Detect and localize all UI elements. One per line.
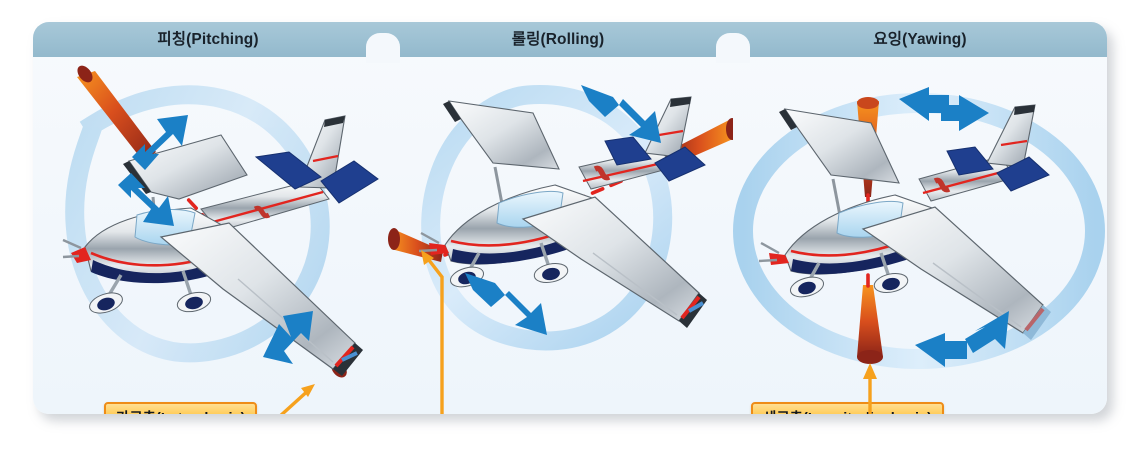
yawing-illustration	[733, 57, 1107, 414]
aircraft-pitching	[63, 116, 378, 376]
column-title-yawing: 요잉(Yawing)	[733, 30, 1107, 50]
rolling-illustration	[383, 57, 733, 414]
column-title-pitching: 피칭(Pitching)	[33, 30, 383, 50]
diagram-panel: 피칭(Pitching) 롤링(Rolling) 요잉(Yawing)	[33, 22, 1107, 414]
figure-root: 피칭(Pitching) 롤링(Rolling) 요잉(Yawing)	[0, 0, 1140, 464]
column-title-rolling: 롤링(Rolling)	[383, 30, 733, 50]
callout-lateral-axis: 가로축(Lateral axis)	[104, 402, 257, 414]
pitching-illustration	[33, 57, 383, 414]
column-yawing: 수직축(Vertical axis)	[733, 57, 1107, 414]
column-pitching: 가로축(Lateral axis)	[33, 57, 383, 414]
column-rolling: 세로축(Longitudinal axis)	[383, 57, 733, 414]
